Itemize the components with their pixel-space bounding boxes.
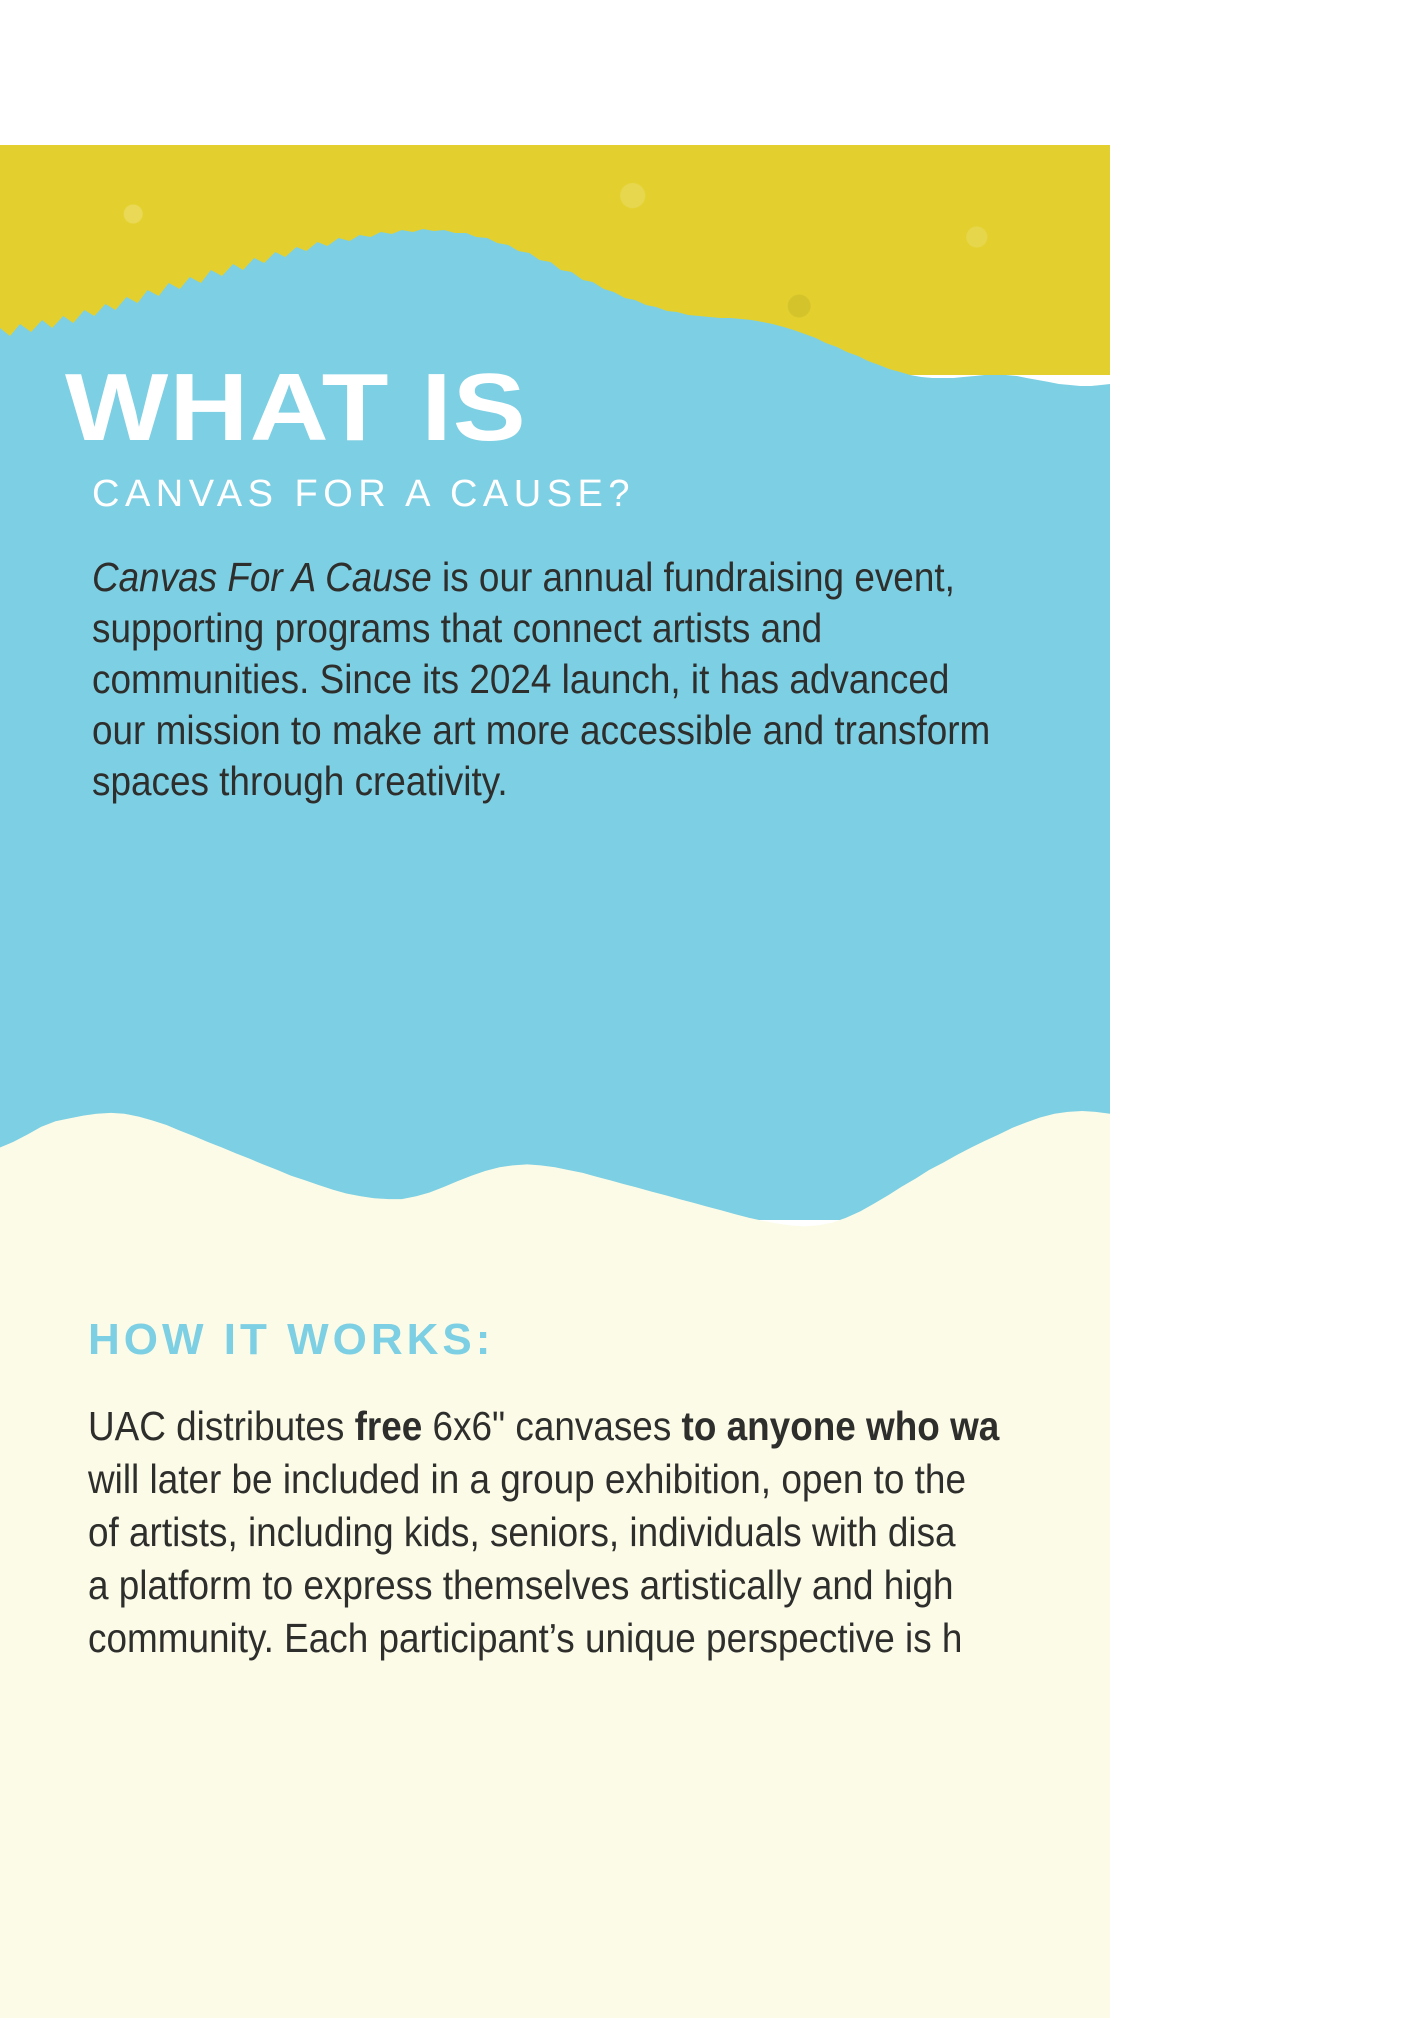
how-body-seg-1: UAC distributes [88,1403,355,1449]
how-body-seg-2: 6x6" canvases [422,1403,681,1449]
poster-page: WHAT IS CANVAS FOR A CAUSE? Canvas For A… [0,0,1428,2018]
how-it-works-body-paragraph: UAC distributes free 6x6" canvases to an… [88,1400,1110,1665]
what-is-body-paragraph: Canvas For A Cause is our annual fundrai… [92,552,1001,807]
page-title: WHAT IS [65,363,527,453]
event-name-italic: Canvas For A Cause [92,554,432,600]
how-body-bold-free: free [355,1403,423,1449]
how-body-line-2: will later be included in a group exhibi… [88,1456,966,1502]
how-it-works-heading: HOW IT WORKS: [88,1315,494,1365]
artboard: WHAT IS CANVAS FOR A CAUSE? Canvas For A… [0,0,1110,2018]
how-body-line-5: community. Each participant’s unique per… [88,1615,962,1661]
how-body-bold-anyone: to anyone who wa [682,1403,1000,1449]
page-subtitle: CANVAS FOR A CAUSE? [92,473,635,516]
how-body-line-3: of artists, including kids, seniors, ind… [88,1509,956,1555]
how-body-line-4: a platform to express themselves artisti… [88,1562,954,1608]
